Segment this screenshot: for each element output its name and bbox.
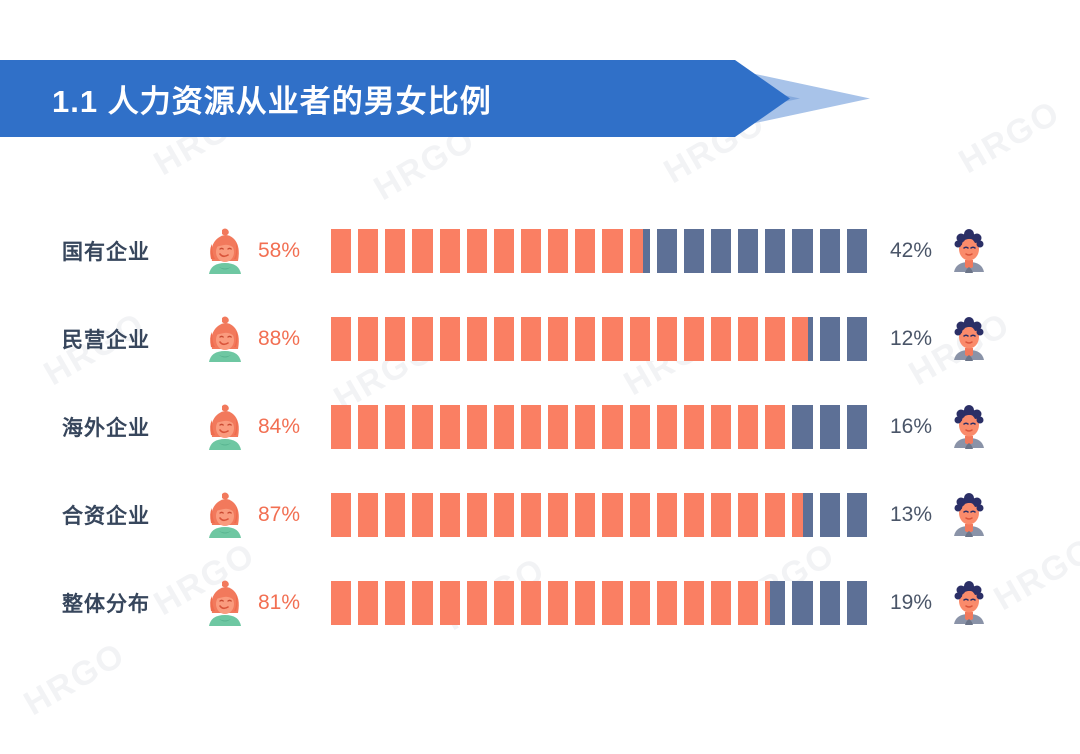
bar-divider (541, 229, 548, 273)
stacked-bar (324, 405, 874, 449)
bar-divider (758, 229, 765, 273)
chart-row: 海外企业84%16% (0, 398, 1080, 456)
bar-divider (324, 229, 331, 273)
bar-divider (460, 229, 467, 273)
bar-divider (405, 229, 412, 273)
bar-divider (541, 581, 548, 625)
bar-segment-dividers (324, 581, 874, 625)
male-avatar-icon (947, 579, 991, 627)
bar-divider (351, 493, 358, 537)
gender-ratio-chart: 国有企业58%42%民营企业88%12%海外企业84%16%合资企业87%13%… (0, 222, 1080, 632)
bar-divider (813, 317, 820, 361)
female-percentage: 87% (258, 503, 324, 527)
female-avatar (202, 402, 248, 452)
bar-divider (840, 229, 847, 273)
stacked-bar (324, 493, 874, 537)
female-avatar-icon (203, 227, 247, 275)
bar-divider (758, 405, 765, 449)
bar-divider (433, 493, 440, 537)
bar-divider (704, 405, 711, 449)
bar-divider (758, 317, 765, 361)
female-avatar (202, 490, 248, 540)
bar-divider (405, 317, 412, 361)
bar-divider (785, 229, 792, 273)
bar-divider (867, 229, 874, 273)
bar-divider (813, 493, 820, 537)
bar-divider (840, 405, 847, 449)
chart-row: 国有企业58%42% (0, 222, 1080, 280)
chart-row: 整体分布81%19% (0, 574, 1080, 632)
bar-divider (650, 405, 657, 449)
bar-divider (731, 581, 738, 625)
bar-divider (378, 317, 385, 361)
bar-divider (758, 581, 765, 625)
bar-divider (813, 229, 820, 273)
bar-divider (677, 317, 684, 361)
bar-divider (324, 405, 331, 449)
bar-divider (460, 493, 467, 537)
bar-divider (867, 317, 874, 361)
bar-divider (541, 405, 548, 449)
female-percentage: 58% (258, 239, 324, 263)
bar-divider (514, 493, 521, 537)
male-avatar-icon (947, 403, 991, 451)
bar-divider (650, 581, 657, 625)
bar-divider (568, 493, 575, 537)
bar-divider (433, 317, 440, 361)
male-avatar (946, 402, 992, 452)
bar-divider (514, 229, 521, 273)
female-avatar-icon (203, 403, 247, 451)
bar-divider (813, 405, 820, 449)
bar-divider (324, 493, 331, 537)
bar-divider (405, 405, 412, 449)
watermark-text: HRGO (953, 93, 1068, 182)
bar-divider (460, 581, 467, 625)
bar-divider (405, 581, 412, 625)
male-avatar (946, 226, 992, 276)
bar-divider (704, 493, 711, 537)
header-banner: 1.1 人力资源从业者的男女比例 (0, 60, 870, 137)
bar-divider (487, 493, 494, 537)
bar-divider (650, 317, 657, 361)
female-avatar (202, 314, 248, 364)
female-percentage: 84% (258, 415, 324, 439)
row-label: 海外企业 (62, 412, 202, 442)
bar-divider (595, 405, 602, 449)
bar-divider (758, 493, 765, 537)
bar-divider (405, 493, 412, 537)
bar-segment-dividers (324, 405, 874, 449)
male-percentage: 42% (890, 239, 946, 263)
bar-divider (785, 317, 792, 361)
stacked-bar (324, 581, 874, 625)
bar-divider (785, 405, 792, 449)
bar-divider (487, 405, 494, 449)
stacked-bar (324, 229, 874, 273)
bar-divider (785, 493, 792, 537)
bar-divider (378, 405, 385, 449)
bar-divider (731, 229, 738, 273)
bar-divider (813, 581, 820, 625)
bar-divider (704, 317, 711, 361)
bar-divider (514, 405, 521, 449)
male-avatar-icon (947, 491, 991, 539)
bar-divider (595, 317, 602, 361)
row-label: 国有企业 (62, 236, 202, 266)
male-avatar (946, 578, 992, 628)
bar-divider (623, 493, 630, 537)
bar-segment-dividers (324, 317, 874, 361)
bar-divider (623, 229, 630, 273)
bar-divider (351, 317, 358, 361)
bar-divider (867, 405, 874, 449)
bar-divider (650, 493, 657, 537)
bar-divider (840, 317, 847, 361)
bar-divider (677, 229, 684, 273)
male-percentage: 19% (890, 591, 946, 615)
bar-divider (568, 581, 575, 625)
bar-divider (378, 493, 385, 537)
row-label: 整体分布 (62, 588, 202, 618)
bar-divider (867, 493, 874, 537)
female-percentage: 88% (258, 327, 324, 351)
bar-divider (840, 493, 847, 537)
bar-divider (785, 581, 792, 625)
male-avatar-icon (947, 315, 991, 363)
bar-divider (568, 229, 575, 273)
bar-divider (433, 405, 440, 449)
bar-divider (595, 493, 602, 537)
bar-divider (623, 317, 630, 361)
bar-divider (867, 581, 874, 625)
bar-divider (731, 493, 738, 537)
bar-divider (731, 405, 738, 449)
bar-divider (324, 317, 331, 361)
stacked-bar (324, 317, 874, 361)
female-avatar-icon (203, 579, 247, 627)
bar-divider (704, 229, 711, 273)
male-percentage: 12% (890, 327, 946, 351)
bar-divider (460, 405, 467, 449)
bar-divider (351, 581, 358, 625)
female-percentage: 81% (258, 591, 324, 615)
bar-divider (433, 581, 440, 625)
male-avatar-icon (947, 227, 991, 275)
bar-divider (677, 493, 684, 537)
bar-divider (487, 581, 494, 625)
bar-divider (378, 581, 385, 625)
bar-divider (541, 317, 548, 361)
bar-divider (514, 581, 521, 625)
bar-divider (704, 581, 711, 625)
bar-divider (351, 229, 358, 273)
bar-divider (433, 229, 440, 273)
bar-divider (324, 581, 331, 625)
male-percentage: 13% (890, 503, 946, 527)
male-avatar (946, 314, 992, 364)
chart-row: 民营企业88%12% (0, 310, 1080, 368)
chart-row: 合资企业87%13% (0, 486, 1080, 544)
row-label: 民营企业 (62, 324, 202, 354)
bar-divider (840, 581, 847, 625)
bar-divider (595, 229, 602, 273)
bar-segment-dividers (324, 493, 874, 537)
bar-segment-dividers (324, 229, 874, 273)
bar-divider (595, 581, 602, 625)
bar-divider (568, 405, 575, 449)
bar-divider (568, 317, 575, 361)
female-avatar-icon (203, 315, 247, 363)
bar-divider (731, 317, 738, 361)
bar-divider (623, 581, 630, 625)
male-avatar (946, 490, 992, 540)
bar-divider (378, 229, 385, 273)
bar-divider (677, 581, 684, 625)
bar-divider (650, 229, 657, 273)
bar-divider (460, 317, 467, 361)
female-avatar (202, 578, 248, 628)
page-title: 1.1 人力资源从业者的男女比例 (52, 60, 492, 137)
bar-divider (541, 493, 548, 537)
watermark-text: HRGO (18, 635, 133, 724)
female-avatar (202, 226, 248, 276)
row-label: 合资企业 (62, 500, 202, 530)
bar-divider (623, 405, 630, 449)
bar-divider (487, 317, 494, 361)
bar-divider (677, 405, 684, 449)
bar-divider (351, 405, 358, 449)
female-avatar-icon (203, 491, 247, 539)
male-percentage: 16% (890, 415, 946, 439)
bar-divider (487, 229, 494, 273)
bar-divider (514, 317, 521, 361)
